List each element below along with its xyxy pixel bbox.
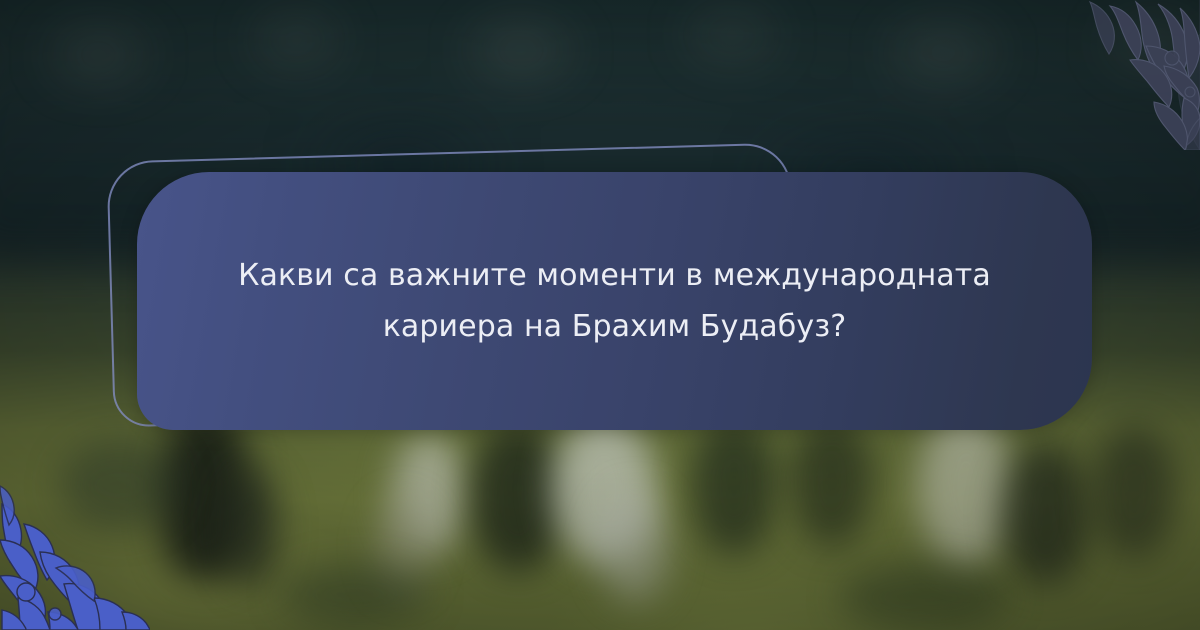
question-title: Какви са важните моменти в международнат… — [215, 250, 1015, 352]
social-card-canvas: Какви са важните моменти в международнат… — [0, 0, 1200, 630]
question-card: Какви са важните моменти в международнат… — [137, 172, 1092, 430]
